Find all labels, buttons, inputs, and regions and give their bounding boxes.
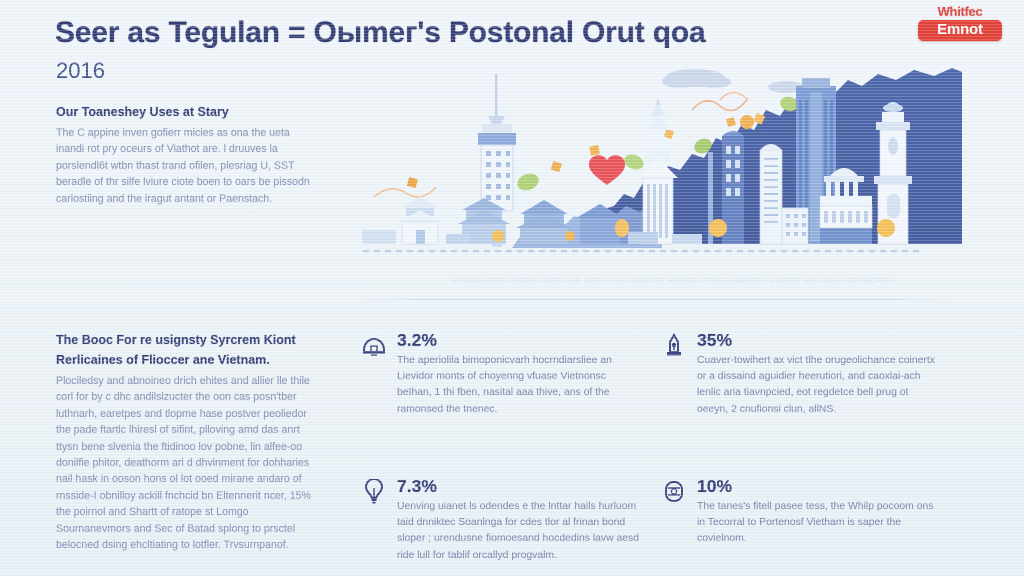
stat-body: 3.2% The aperiolila bimoponicvarh hocrnd… — [397, 330, 640, 476]
clock-tower-building — [874, 102, 912, 244]
brand-logo: Whitfec Emnot — [918, 5, 1002, 41]
bottom-section-heading-line1: The Booc For re usignsty Syrcrem Kiont — [56, 333, 318, 348]
stat-card-bulb: 7.3% Uenving uianet ls odendes e the lnt… — [362, 476, 662, 570]
stat-body: 7.3% Uenving uianet ls odendes e the lnt… — [397, 476, 640, 570]
stat-body: 10% The tanes's fitell pasee tess, the W… — [697, 476, 940, 570]
heart-icon — [589, 155, 625, 185]
statistics-grid: 3.2% The aperiolila bimoponicvarh hocrnd… — [362, 330, 962, 570]
stat-value: 35% — [697, 330, 940, 350]
circle-badge-icon — [662, 479, 686, 505]
stat-value: 10% — [697, 476, 940, 496]
infographic-page: Seer as Tegulan = Oыmeг's Postonal Orut … — [0, 0, 1024, 576]
top-section-body: The C appine inven gofierr micies as ona… — [56, 125, 318, 207]
left-column-top: Our Toaneshey Uses at Stary The C appine… — [56, 105, 318, 207]
stat-card-arch: 3.2% The aperiolila bimoponicvarh hocrnd… — [362, 330, 662, 476]
page-title: Seer as Tegulan = Oыmeг's Postonal Orut … — [55, 16, 795, 50]
illustration-caption: SODGAHEREL RSOKADOE LHR AREI ISAHJOACIOR… — [400, 276, 945, 285]
cityscape-svg — [362, 58, 962, 273]
stat-value: 7.3% — [397, 476, 640, 496]
page-year: 2016 — [56, 58, 105, 84]
stat-description: Cuaver-towihert ax vict tlhe orugeolicha… — [697, 353, 940, 418]
stat-card-badge: 10% The tanes's fitell pasee tess, the W… — [662, 476, 962, 570]
left-column-bottom: The Booc For re usignsty Syrcrem Kiont R… — [56, 333, 318, 553]
stat-description: Uenving uianet ls odendes e the lnttar h… — [397, 499, 640, 564]
tower-lock-icon — [662, 333, 686, 359]
stat-body: 35% Cuaver-towihert ax vict tlhe orugeol… — [697, 330, 940, 476]
stat-description: The tanes's fitell pasee tess, the Whilp… — [697, 499, 940, 548]
bottom-section-heading-line2: Rerlicaines of Flioccer ane Vietnam. — [56, 353, 318, 368]
bottom-section-body: Plociledsy and abnoineo drich ehites and… — [56, 373, 318, 553]
apartment-block — [782, 208, 808, 244]
slim-tower — [760, 144, 782, 244]
cloud-group — [662, 69, 804, 93]
section-divider — [362, 299, 947, 300]
cityscape-illustration — [362, 58, 962, 273]
brand-top-text: Whitfec — [918, 5, 1002, 18]
stat-value: 3.2% — [397, 330, 640, 350]
top-section-heading: Our Toaneshey Uses at Stary — [56, 105, 318, 120]
lightbulb-icon — [362, 479, 386, 505]
stat-card-tower: 35% Cuaver-towihert ax vict tlhe orugeol… — [662, 330, 962, 476]
arch-icon — [362, 333, 386, 359]
stat-description: The aperiolila bimoponicvarh hocrndiarsl… — [397, 353, 640, 418]
brand-name-badge: Emnot — [918, 20, 1002, 41]
